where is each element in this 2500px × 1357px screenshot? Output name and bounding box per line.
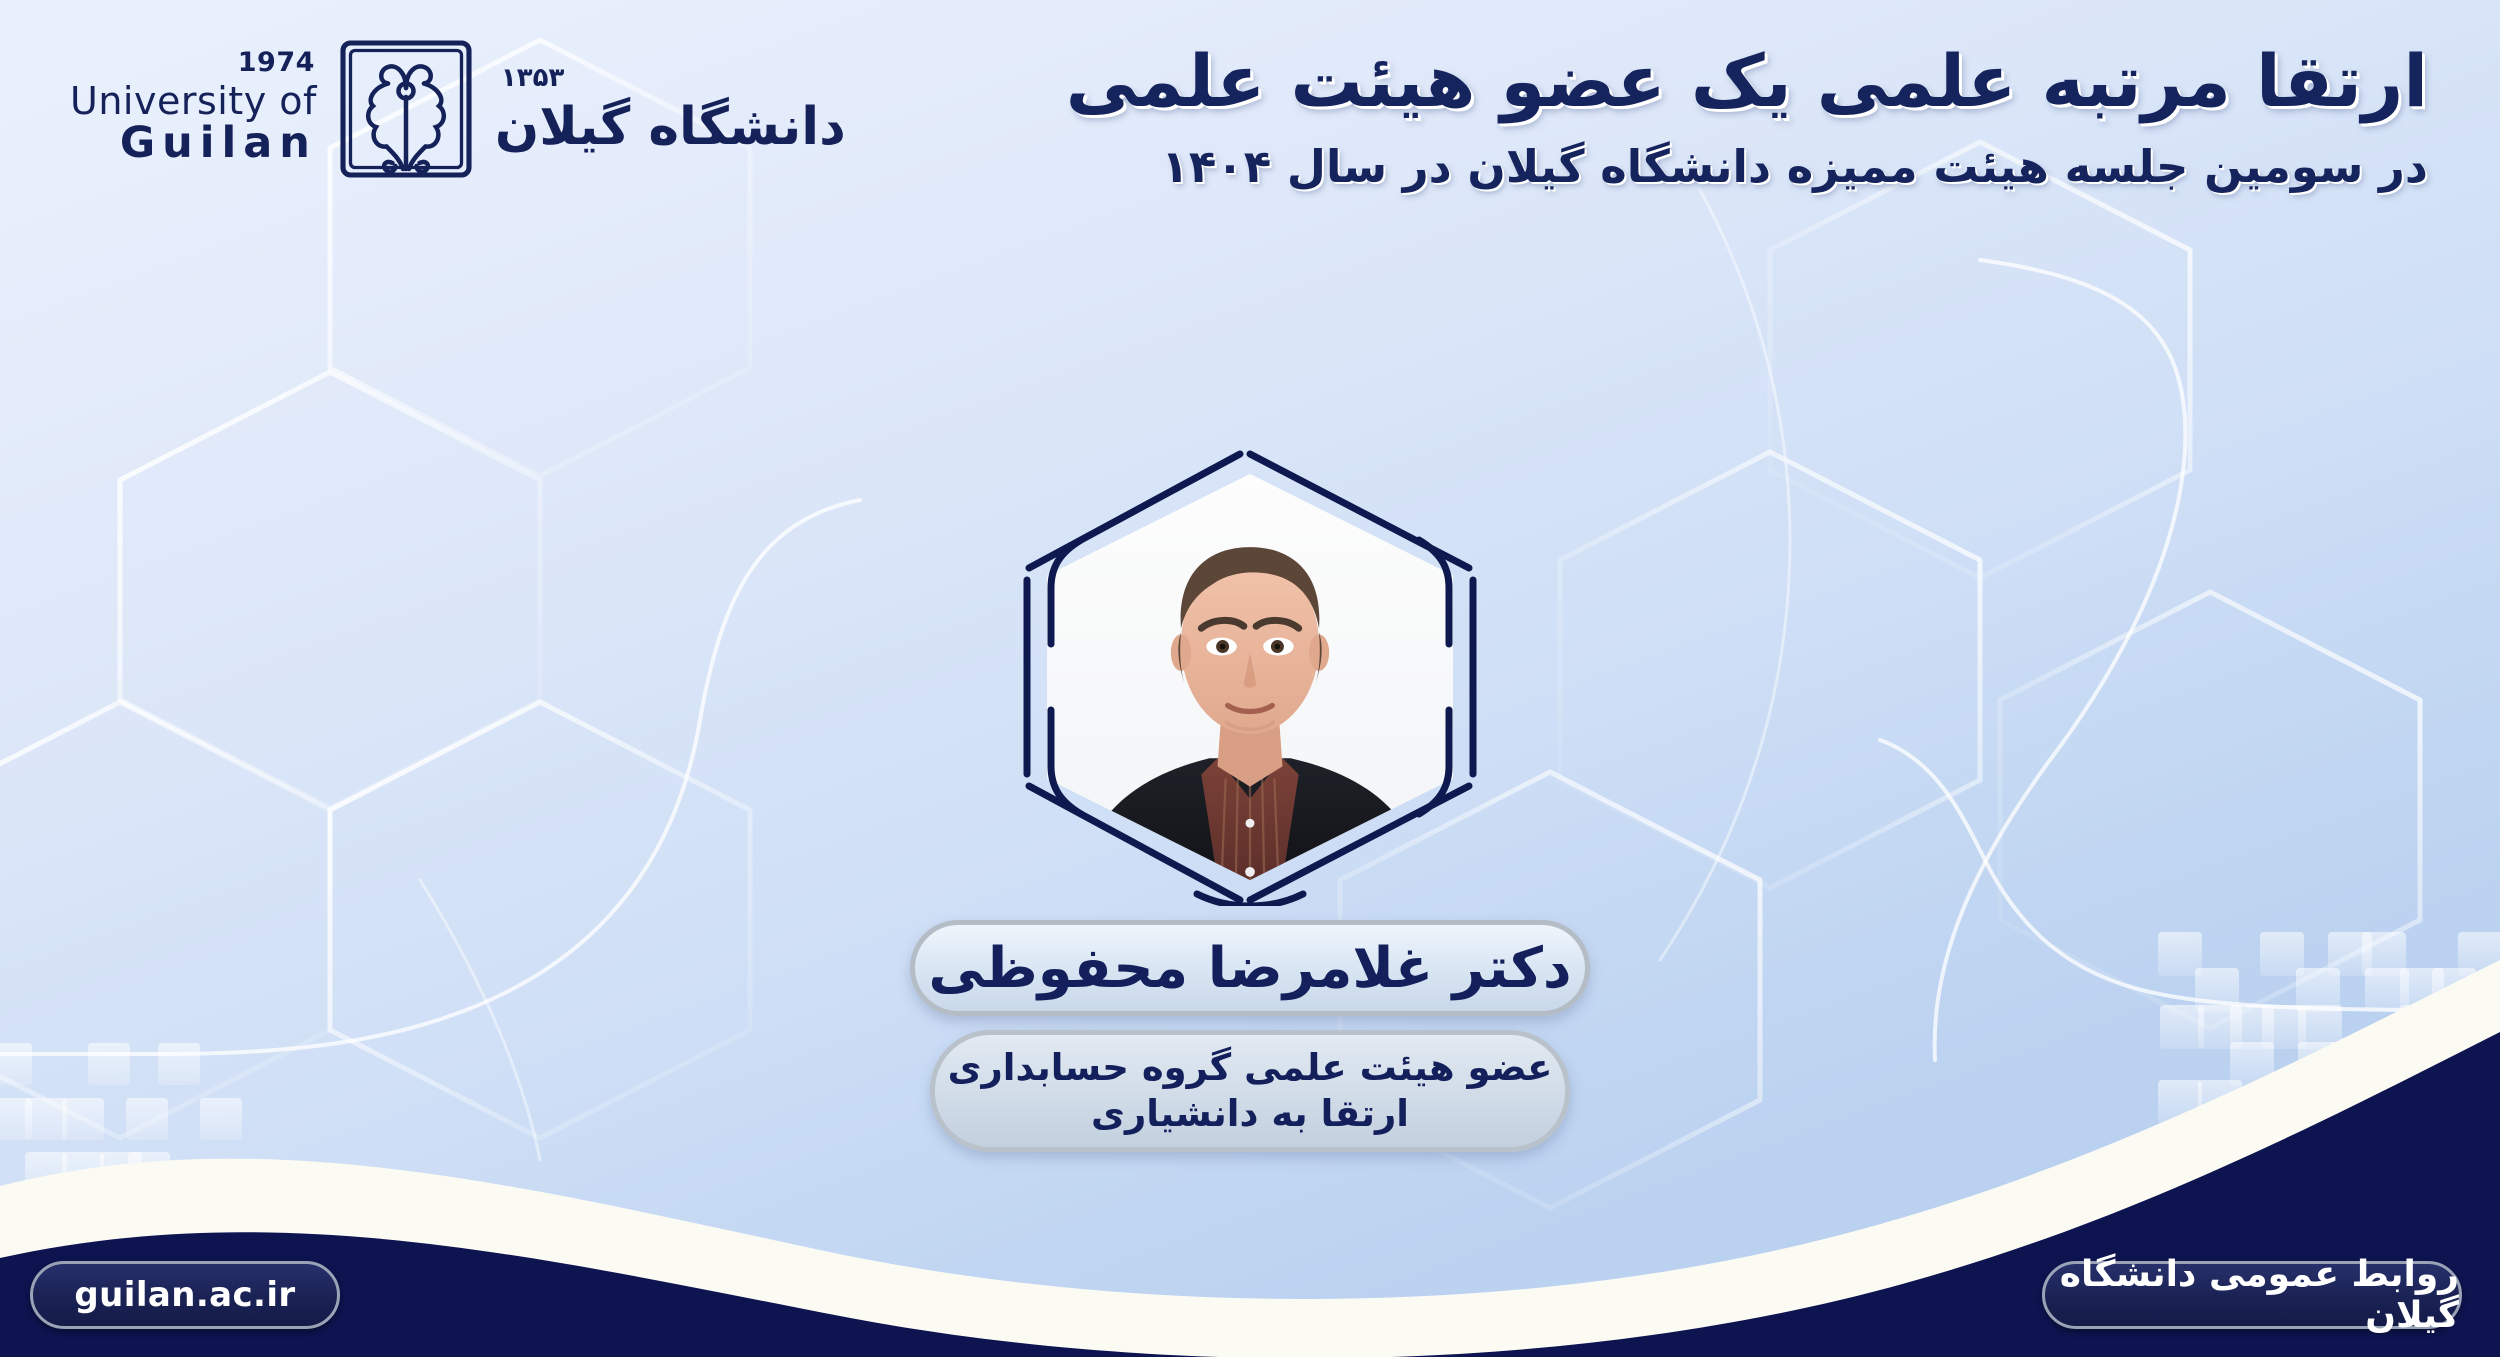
person-role-line1: عضو هیئت علمی گروه حسابداری [948, 1046, 1553, 1090]
logo-founding-year-fa: ۱۳۵۳ [501, 65, 846, 91]
headline-block: ارتقا مرتبه علمی یک عضو هیئت علمی در سوم… [1066, 36, 2428, 197]
public-relations-text: روابط عمومی دانشگاه گیلان [2045, 1254, 2459, 1336]
logo-guilan-word: Guilan [70, 122, 317, 165]
square-pattern-right [2158, 932, 2500, 1124]
university-logo: 1974 University of Guilan ۱۳۵۳ دانشگاه [70, 34, 846, 184]
website-url-text: guilan.ac.ir [74, 1275, 295, 1315]
logo-university-word: University of [70, 82, 317, 120]
person-role-line2: ارتقا به دانشیاری [1091, 1092, 1409, 1136]
person-name-badge: دکتر غلامرضا محفوظی [910, 920, 1590, 1016]
hexagon-frame-icon [1021, 448, 1479, 906]
logo-persian-text: ۱۳۵۳ دانشگاه گیلان [495, 65, 846, 153]
page-subtitle: در سومین جلسه هیئت ممیزه دانشگاه گیلان د… [1066, 138, 2428, 197]
logo-english-text: 1974 University of Guilan [70, 49, 317, 169]
logo-founding-year-en: 1974 [70, 49, 315, 76]
public-relations-badge: روابط عمومی دانشگاه گیلان [2042, 1261, 2462, 1329]
page-title: ارتقا مرتبه علمی یک عضو هیئت علمی [1066, 36, 2428, 126]
person-name-text: دکتر غلامرضا محفوظی [928, 936, 1571, 1001]
guilan-butterfly-emblem-icon [331, 34, 481, 184]
website-badge[interactable]: guilan.ac.ir [30, 1261, 340, 1329]
portrait-hexagon [1021, 448, 1479, 906]
logo-university-name-fa: دانشگاه گیلان [495, 101, 846, 153]
person-role-badge: عضو هیئت علمی گروه حسابداری ارتقا به دان… [930, 1030, 1570, 1152]
poster-canvas: 1974 University of Guilan ۱۳۵۳ دانشگاه [0, 0, 2500, 1357]
